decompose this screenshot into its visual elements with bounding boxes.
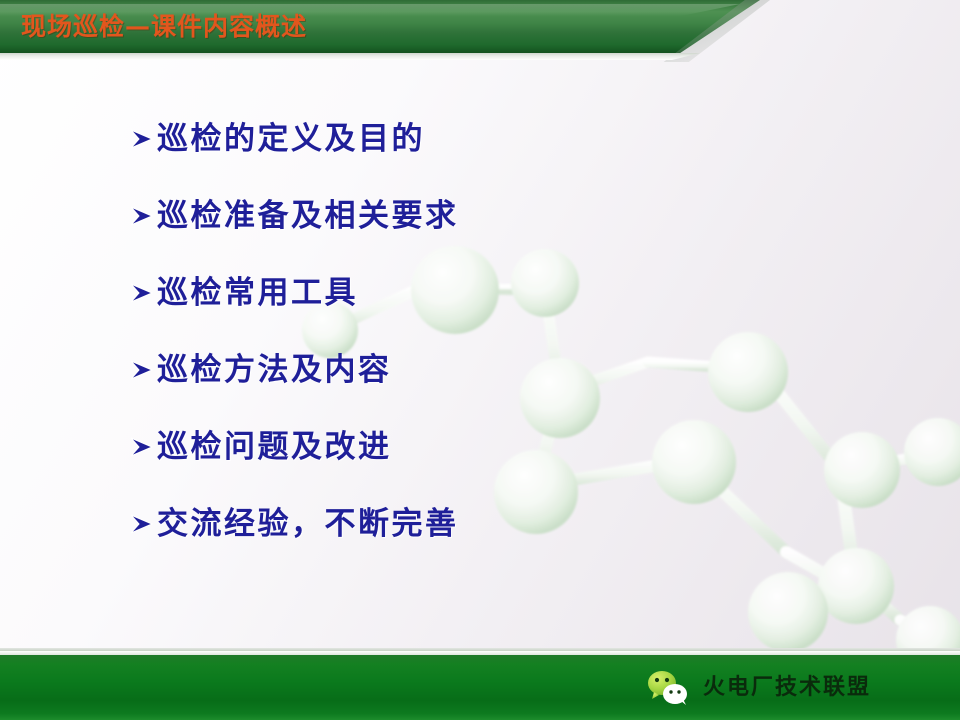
header-underline (0, 53, 700, 60)
arrow-bullet-icon (128, 511, 154, 537)
arrow-bullet-icon (128, 203, 154, 229)
list-item: 巡检的定义及目的 (128, 100, 748, 177)
list-item: 巡检常用工具 (128, 254, 748, 331)
list-item: 巡检方法及内容 (128, 331, 748, 408)
list-item-label: 巡检常用工具 (157, 276, 358, 310)
footer-brand-label: 火电厂技术联盟 (703, 675, 871, 701)
arrow-bullet-icon (128, 434, 154, 460)
arrow-bullet-icon (128, 126, 154, 152)
arrow-bullet-icon (128, 280, 154, 306)
list-item-label: 巡检准备及相关要求 (157, 199, 459, 233)
list-item-label: 交流经验，不断完善 (157, 507, 459, 541)
content-bullet-list: 巡检的定义及目的 巡检准备及相关要求 巡检常用工具 巡检方法及内容 巡检问题及改 (128, 100, 748, 562)
arrow-bullet-icon (128, 357, 154, 383)
wechat-logo-icon (645, 668, 693, 708)
list-item: 巡检准备及相关要求 (128, 177, 748, 254)
list-item-label: 巡检问题及改进 (157, 430, 392, 464)
slide: 现场巡检—课件内容概述 巡检的定义及目的 巡检准备及相关要求 巡检常用工具 (0, 0, 960, 720)
list-item-label: 巡检的定义及目的 (157, 122, 425, 156)
list-item: 巡检问题及改进 (128, 408, 748, 485)
page-title: 现场巡检—课件内容概述 (21, 12, 307, 42)
list-item-label: 巡检方法及内容 (157, 353, 392, 387)
list-item: 交流经验，不断完善 (128, 485, 748, 562)
footer-brand: 火电厂技术联盟 (645, 666, 871, 710)
